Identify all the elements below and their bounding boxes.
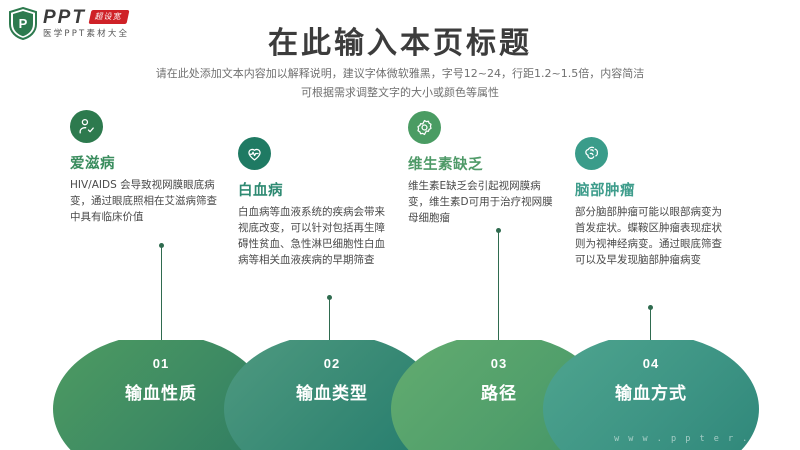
column-body: 白血病等血液系统的疾病会带来视底改变，可以针对包括再生障碍性贫血、急性淋巴细胞性… [238,204,388,268]
content-column-4: 脑部肿瘤 部分脑部肿瘤可能以眼部病变为首发症状。蝶鞍区肿瘤表现症状则为视神经病变… [575,137,725,268]
brain-icon [575,137,608,170]
page-subtitle: 请在此处添加文本内容加以解释说明，建议字体微软雅黑，字号12~24，行距1.2~… [100,64,700,102]
column-body: 部分脑部肿瘤可能以眼部病变为首发症状。蝶鞍区肿瘤表现症状则为视神经病变。通过眼底… [575,204,725,268]
column-heading: 爱滋病 [70,152,220,173]
column-heading: 维生素缺乏 [408,153,558,174]
site-watermark: w w w . p p t e r . c o m [614,434,792,444]
column-heading: 脑部肿瘤 [575,179,725,200]
content-column-2: 白血病 白血病等血液系统的疾病会带来视底改变，可以针对包括再生障碍性贫血、急性淋… [238,137,388,268]
person-check-icon [70,110,103,143]
content-column-1: 爱滋病 HIV/AIDS 会导致视网膜眼底病变，通过眼底照相在艾滋病筛查中具有临… [70,110,220,225]
dome-title: 输血方式 [543,379,759,404]
content-column-3: 维生素缺乏 维生素E缺乏会引起视网膜病变，维生素D可用于治疗视网膜母细胞瘤 [408,111,558,226]
page-title: 在此输入本页标题 [0,18,800,62]
heart-pulse-icon [238,137,271,170]
slide-canvas: P PPT 超设宽 医学PPT素材大全 在此输入本页标题 请在此处添加文本内容加… [0,0,800,450]
column-body: HIV/AIDS 会导致视网膜眼底病变，通过眼底照相在艾滋病筛查中具有临床价值 [70,177,220,225]
dome-group: 01 输血性质 02 输血类型 03 路径 04 输血方式 w w w . p … [0,340,800,450]
subtitle-line-2: 可根据需求调整文字的大小或颜色等属性 [100,83,700,102]
dome-number: 04 [543,356,759,371]
vitamin-gear-icon [408,111,441,144]
connector-line-1 [161,247,162,352]
connector-line-3 [498,232,499,352]
subtitle-line-1: 请在此处添加文本内容加以解释说明，建议字体微软雅黑，字号12~24，行距1.2~… [100,64,700,83]
column-heading: 白血病 [238,179,388,200]
column-body: 维生素E缺乏会引起视网膜病变，维生素D可用于治疗视网膜母细胞瘤 [408,178,558,226]
